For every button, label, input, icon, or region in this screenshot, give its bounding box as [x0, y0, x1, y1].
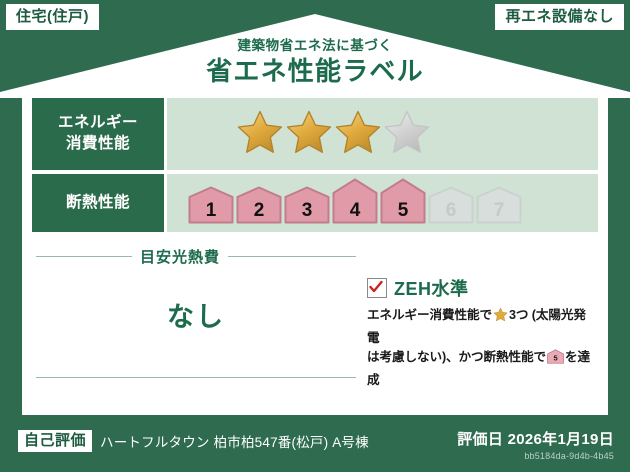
- utility-cost-block: 目安光熱費 なし: [36, 242, 356, 392]
- insulation-grade-2: 2: [236, 186, 282, 229]
- energy-performance-label-box: エネルギー 消費性能: [32, 98, 164, 170]
- insulation-grade-5: 5: [380, 178, 426, 229]
- renewable-equipment-tag: 再エネ設備なし: [495, 4, 624, 30]
- energy-label-line1: エネルギー: [58, 113, 138, 134]
- insulation-grade-3: 3: [284, 186, 330, 229]
- zeh-title-row: ZEH水準: [367, 275, 597, 301]
- heading-rule-left: [36, 256, 132, 257]
- zeh-description: エネルギー消費性能で 3つ (太陽光発電は考慮しない)、かつ断熱性能で 5 を達…: [367, 306, 597, 390]
- svg-text:3: 3: [302, 200, 313, 221]
- evaluation-date: 評価日 2026年1月19日: [457, 428, 614, 449]
- svg-text:2: 2: [254, 200, 265, 221]
- house-grade-icon: 5: [547, 349, 564, 371]
- zeh-desc-part1: エネルギー消費性能で: [367, 308, 492, 322]
- utility-cost-bottom-rule: [36, 377, 356, 378]
- check-icon: [369, 280, 383, 294]
- label-body-panel: エネルギー 消費性能 断熱性能 1234567 目安光熱費 なし: [22, 90, 608, 412]
- star-icon-filled: [335, 109, 381, 160]
- energy-label-line2: 消費性能: [66, 134, 130, 155]
- footer-divider: [22, 412, 608, 415]
- insulation-grade-1: 1: [188, 186, 234, 229]
- star-icon-filled: [286, 109, 332, 160]
- svg-text:5: 5: [553, 354, 557, 363]
- star-icon: [493, 307, 508, 329]
- insulation-grade-4: 4: [332, 178, 378, 229]
- svg-text:5: 5: [398, 200, 409, 221]
- evaluation-id: bb5184da-9d4b-4b45: [457, 451, 614, 461]
- building-type-tag: 住宅(住戸): [6, 4, 99, 30]
- zeh-checkbox[interactable]: [367, 278, 387, 298]
- utility-cost-heading: 目安光熱費: [140, 246, 220, 267]
- label-footer: 自己評価 ハートフルタウン 柏市柏547番(松戸) A号棟 評価日 2026年1…: [0, 412, 630, 472]
- zeh-block: ZEH水準 エネルギー消費性能で 3つ (太陽光発電は考慮しない)、かつ断熱性能…: [367, 275, 597, 390]
- svg-text:1: 1: [206, 200, 217, 221]
- utility-cost-value: なし: [36, 295, 356, 334]
- heading-rule-right: [228, 256, 356, 257]
- insulation-grade-scale: 1234567: [188, 178, 522, 229]
- svg-text:4: 4: [350, 200, 361, 221]
- utility-cost-heading-row: 目安光熱費: [36, 246, 356, 267]
- footer-right-group: 評価日 2026年1月19日 bb5184da-9d4b-4b45: [457, 428, 614, 461]
- svg-text:6: 6: [446, 200, 457, 221]
- self-evaluation-badge: 自己評価: [18, 430, 92, 452]
- energy-performance-row: エネルギー 消費性能: [32, 98, 598, 170]
- star-icon-empty: [384, 109, 430, 160]
- insulation-grade-6: 6: [428, 186, 474, 229]
- svg-text:7: 7: [494, 200, 505, 221]
- insulation-grade-7: 7: [476, 186, 522, 229]
- zeh-desc-part3: は考慮しない)、かつ断熱性能で: [367, 350, 546, 364]
- zeh-title: ZEH水準: [394, 275, 469, 301]
- insulation-label: 断熱性能: [66, 193, 130, 214]
- star-rating: [237, 109, 430, 160]
- energy-performance-label: 住宅(住戸) 再エネ設備なし 建築物省エネ法に基づく 省エネ性能ラベル エネルギ…: [0, 0, 630, 472]
- property-name: ハートフルタウン 柏市柏547番(松戸) A号棟: [100, 431, 369, 451]
- footer-left-group: 自己評価 ハートフルタウン 柏市柏547番(松戸) A号棟: [18, 430, 369, 452]
- star-icon-filled: [237, 109, 283, 160]
- insulation-performance-value-box: 1234567: [167, 174, 598, 232]
- energy-performance-value-box: [167, 98, 598, 170]
- insulation-performance-label-box: 断熱性能: [32, 174, 164, 232]
- insulation-performance-row: 断熱性能 1234567: [32, 174, 598, 232]
